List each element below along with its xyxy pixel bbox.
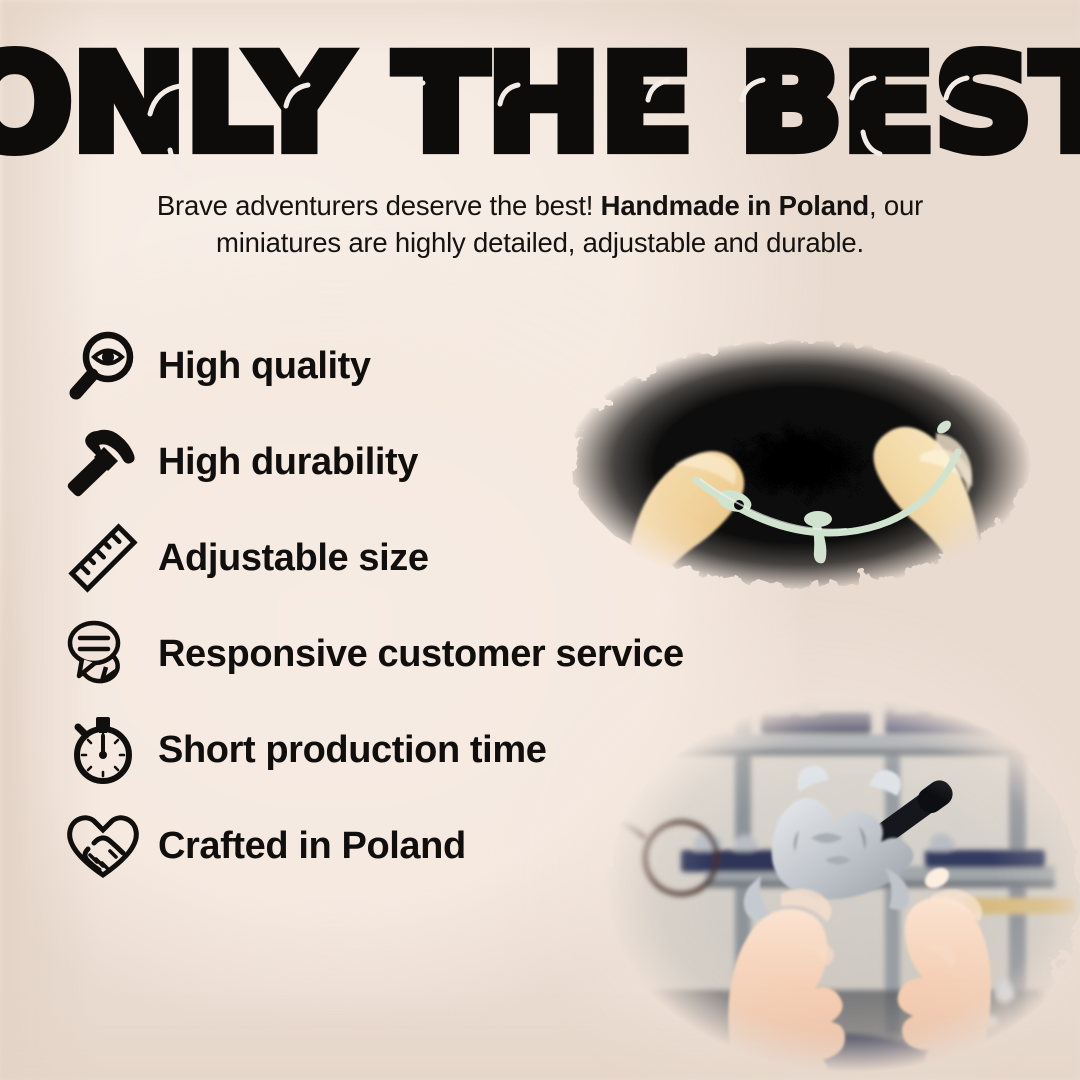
workshop-painting-photo-art [585,690,1080,1080]
feature-label: High durability [158,441,418,484]
feature-item: High quality [62,318,782,414]
feature-label: Responsive customer service [158,633,684,676]
feature-item: Adjustable size [62,510,782,606]
workshop-painting-photo [585,690,1080,1080]
page-title: ONLY THE BEST [0,36,1080,156]
magnifier-eye-icon [62,325,144,407]
subtitle-lead: Brave adventurers deserve the best! [157,190,601,221]
hammer-icon [62,421,144,503]
subtitle: Brave adventurers deserve the best! Hand… [0,188,1080,262]
ruler-icon [62,517,144,599]
feature-item: Responsive customer service [62,606,782,702]
feature-label: Crafted in Poland [158,825,466,868]
feature-label: Adjustable size [158,537,429,580]
promo-graphic: ONLY THE BEST Brave adventurers deserve … [0,0,1080,1080]
feature-item: High durability [62,414,782,510]
stopwatch-icon [62,709,144,791]
feature-label: High quality [158,345,371,388]
handshake-heart-icon [62,805,144,887]
feature-label: Short production time [158,729,546,772]
headline-text: ONLY THE BEST [0,36,1080,171]
speech-bubbles-icon [62,613,144,695]
subtitle-emphasis: Handmade in Poland [601,190,869,221]
